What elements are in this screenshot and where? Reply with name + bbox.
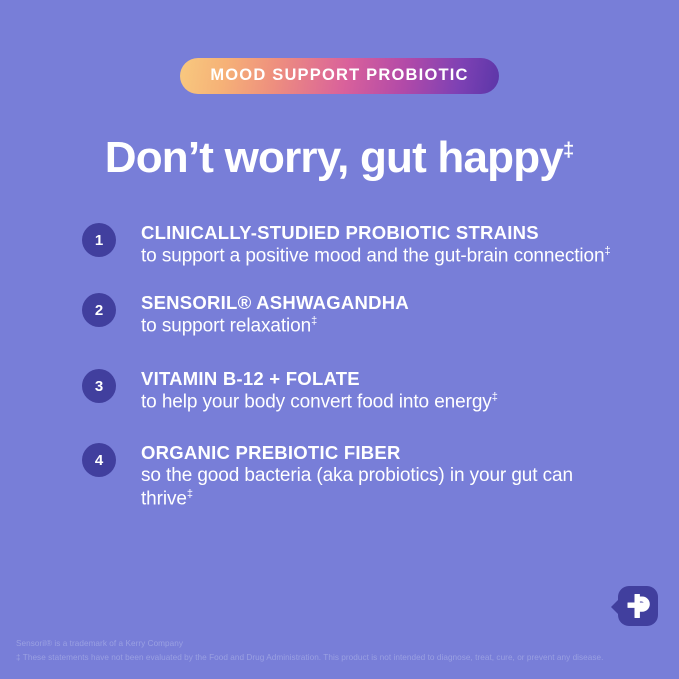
benefit-description: to support a positive mood and the gut-b…: [141, 245, 611, 268]
benefit-number-badge: 2: [82, 293, 116, 327]
benefit-description-text: so the good bacteria (aka probiotics) in…: [141, 465, 573, 509]
benefit-title: ORGANIC PREBIOTIC FIBER: [141, 442, 622, 464]
list-item: 2 SENSORIL® ASHWAGANDHA to support relax…: [82, 292, 622, 338]
benefit-number-badge: 4: [82, 443, 116, 477]
benefit-content: CLINICALLY-STUDIED PROBIOTIC STRAINS to …: [141, 222, 611, 268]
benefit-footnote-marker: ‡: [492, 391, 498, 403]
trademark-note: Sensoril® is a trademark of a Kerry Comp…: [16, 637, 666, 651]
benefit-title: SENSORIL® ASHWAGANDHA: [141, 292, 409, 314]
benefit-title: CLINICALLY-STUDIED PROBIOTIC STRAINS: [141, 222, 611, 244]
benefit-description-text: to help your body convert food into ener…: [141, 392, 492, 413]
benefit-description: to help your body convert food into ener…: [141, 391, 498, 414]
fda-disclaimer-text: These statements have not been evaluated…: [23, 653, 604, 662]
benefit-description-text: to support relaxation: [141, 315, 311, 336]
benefit-number-badge: 1: [82, 223, 116, 257]
benefit-description-text: to support a positive mood and the gut-b…: [141, 245, 604, 266]
benefit-description: so the good bacteria (aka probiotics) in…: [141, 465, 622, 511]
page-title: Don’t worry, gut happy‡: [0, 133, 679, 182]
fda-footnote-marker: ‡: [16, 653, 21, 662]
list-item: 1 CLINICALLY-STUDIED PROBIOTIC STRAINS t…: [82, 222, 622, 268]
list-item: 3 VITAMIN B-12 + FOLATE to help your bod…: [82, 368, 622, 414]
benefit-footnote-marker: ‡: [187, 488, 193, 500]
eyebrow-badge: MOOD SUPPORT PROBIOTIC: [180, 58, 498, 94]
headline-text: Don’t worry, gut happy: [105, 133, 563, 182]
benefits-list: 1 CLINICALLY-STUDIED PROBIOTIC STRAINS t…: [82, 222, 622, 511]
benefit-number-badge: 3: [82, 369, 116, 403]
brand-logo: [611, 585, 659, 631]
benefit-content: VITAMIN B-12 + FOLATE to help your body …: [141, 368, 498, 414]
speech-bubble-p-icon: [611, 585, 659, 631]
benefit-footnote-marker: ‡: [311, 315, 317, 327]
infographic-canvas: MOOD SUPPORT PROBIOTIC Don’t worry, gut …: [0, 0, 679, 679]
eyebrow-banner-container: MOOD SUPPORT PROBIOTIC: [0, 58, 679, 94]
benefit-title: VITAMIN B-12 + FOLATE: [141, 368, 498, 390]
list-item: 4 ORGANIC PREBIOTIC FIBER so the good ba…: [82, 442, 622, 511]
benefit-content: SENSORIL® ASHWAGANDHA to support relaxat…: [141, 292, 409, 338]
benefit-footnote-marker: ‡: [604, 245, 610, 257]
headline-footnote-marker: ‡: [563, 140, 574, 162]
fda-disclaimer: ‡ These statements have not been evaluat…: [16, 651, 666, 665]
benefit-description: to support relaxation‡: [141, 315, 409, 338]
footer-disclaimers: Sensoril® is a trademark of a Kerry Comp…: [16, 637, 666, 665]
benefit-content: ORGANIC PREBIOTIC FIBER so the good bact…: [141, 442, 622, 511]
